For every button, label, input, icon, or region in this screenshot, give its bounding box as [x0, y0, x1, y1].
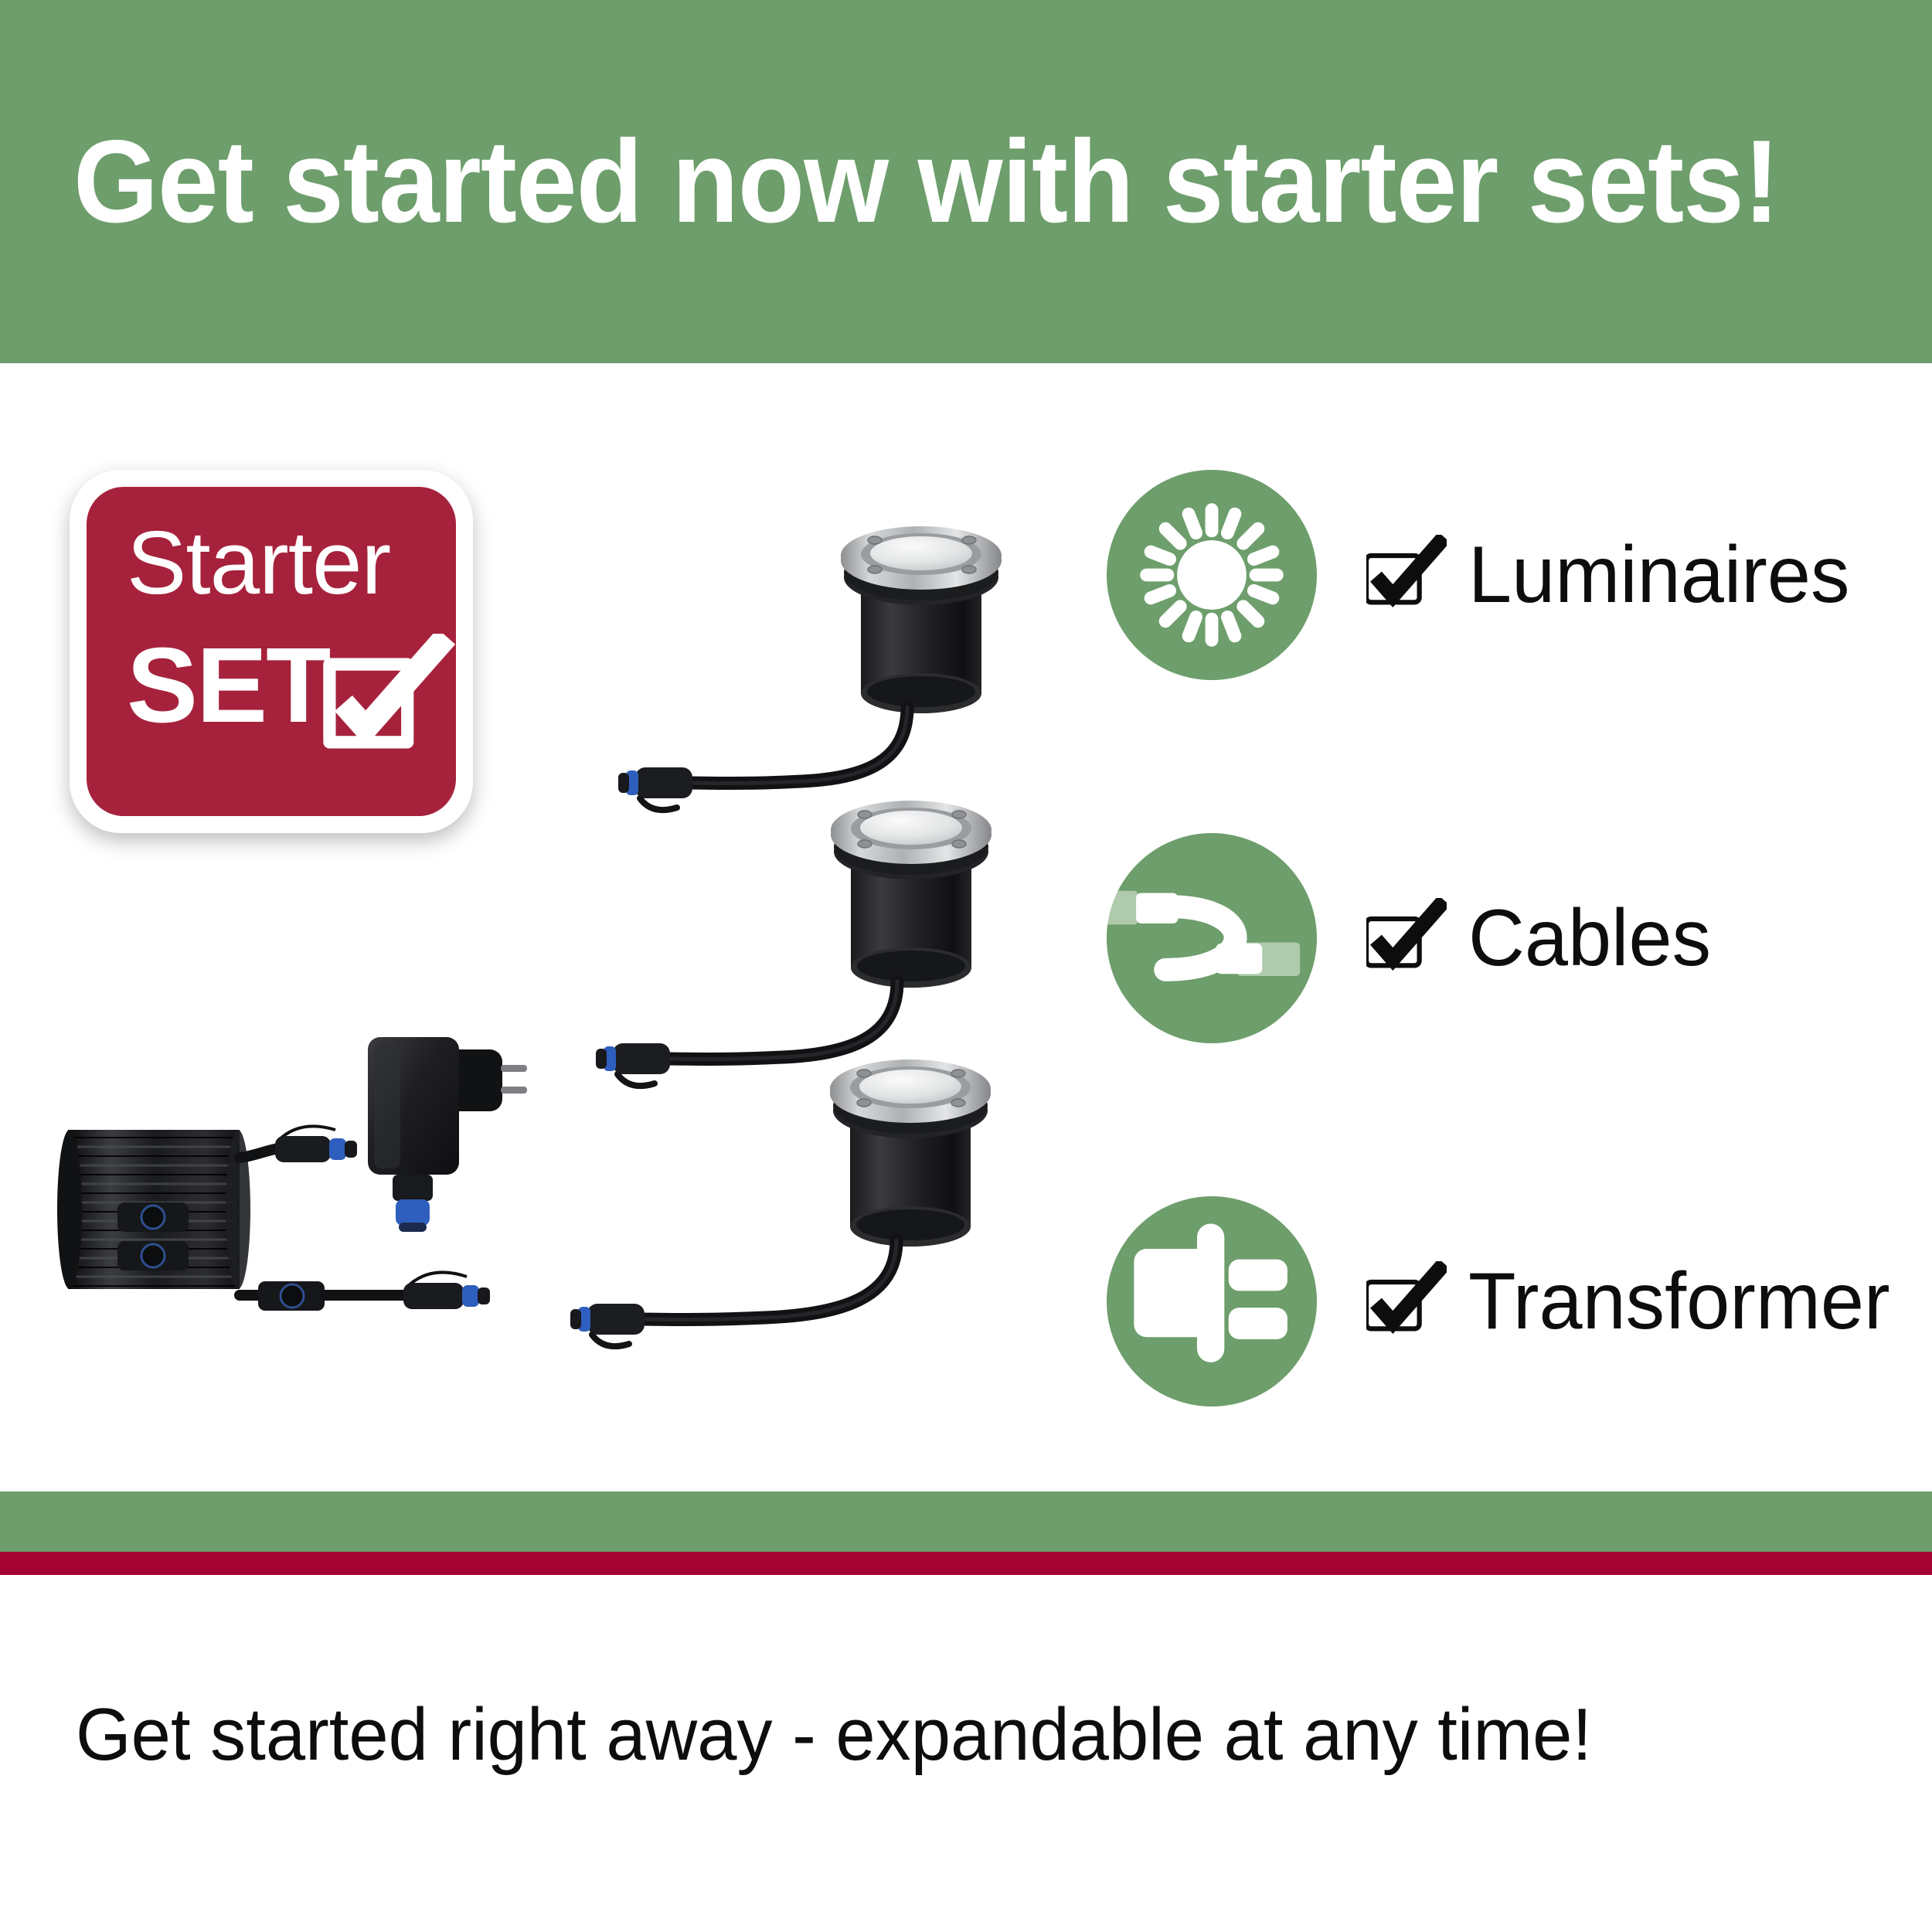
header-banner: Get started now with starter sets! [0, 0, 1932, 363]
starter-set-badge: Starter SET [70, 470, 473, 833]
feature-text: Luminaires [1468, 535, 1849, 615]
footer-green-bar [0, 1492, 1932, 1552]
cable-coil-and-transformer-photo [46, 1028, 541, 1356]
feature-text: Cables [1468, 898, 1711, 978]
feature-label-cables: Cables [1366, 898, 1719, 978]
checkbox-checked-icon [1366, 1261, 1447, 1342]
luminaire-photo-3 [555, 1039, 1034, 1376]
badge-line-set: SET [127, 632, 329, 739]
feature-icon-circle-transformer [1107, 1196, 1317, 1406]
page-title: Get started now with starter sets! [73, 123, 1779, 240]
feature-label-luminaires: Luminaires [1366, 535, 1862, 615]
power-plug-icon [1107, 1196, 1317, 1406]
sun-icon [1107, 470, 1317, 680]
feature-row-cables: Cables [1107, 833, 1719, 1043]
feature-icon-circle-cables [1107, 833, 1317, 1043]
badge-line-starter: Starter [127, 518, 390, 607]
footer-red-bar [0, 1552, 1932, 1575]
checkbox-checked-icon [1366, 535, 1447, 615]
starter-set-badge-body: Starter SET [87, 487, 456, 816]
footer-tagline: Get started right away - expandable at a… [76, 1696, 1782, 1774]
feature-text: Transformer [1468, 1261, 1890, 1342]
cable-icon [1107, 833, 1317, 1043]
feature-row-luminaires: Luminaires [1107, 470, 1862, 680]
feature-row-transformer: Transformer [1107, 1196, 1903, 1406]
feature-label-transformer: Transformer [1366, 1261, 1903, 1342]
feature-icon-circle-luminaires [1107, 470, 1317, 680]
checkbox-checked-icon [1366, 898, 1447, 978]
checkbox-checked-icon [318, 634, 457, 773]
